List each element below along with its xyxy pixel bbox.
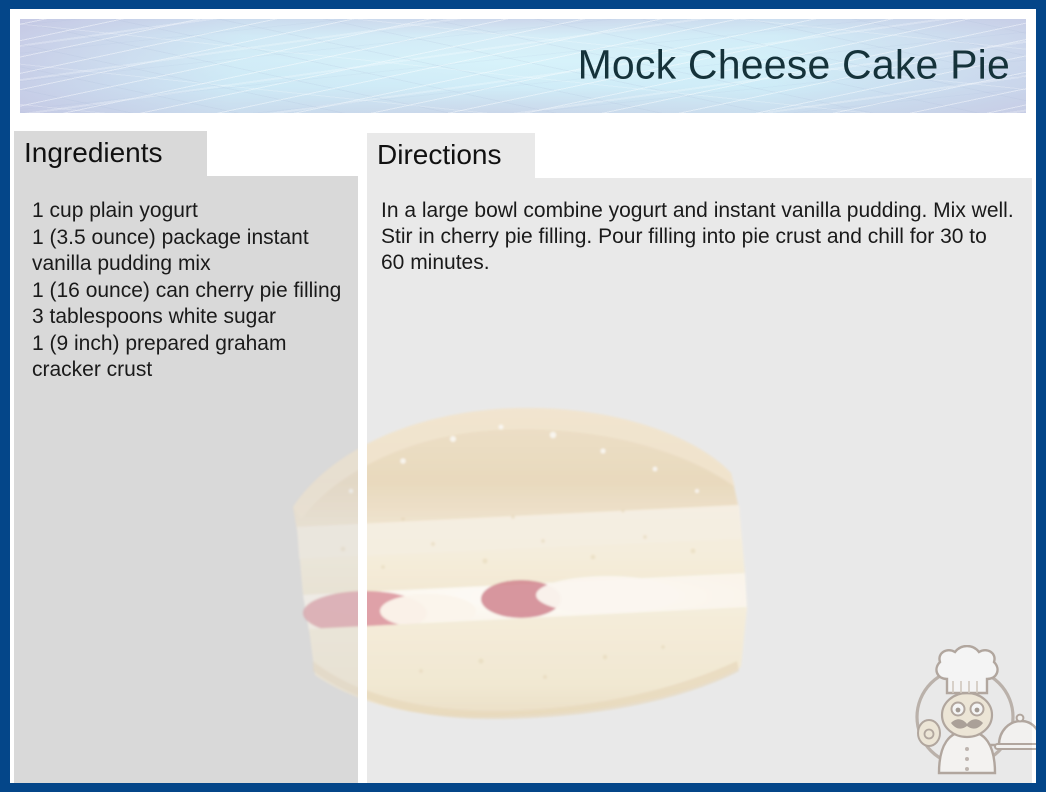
ingredients-panel: 1 cup plain yogurt 1 (3.5 ounce) package…: [14, 176, 358, 783]
ingredient-line: 1 (16 ounce) can cherry pie filling: [32, 278, 350, 305]
recipe-slide: Mock Cheese Cake Pie Ingredients 1 cup p…: [0, 0, 1046, 792]
tab-directions[interactable]: Directions: [367, 133, 535, 178]
ingredients-list: 1 cup plain yogurt 1 (3.5 ounce) package…: [14, 176, 358, 384]
header-banner: Mock Cheese Cake Pie: [20, 19, 1026, 113]
ingredient-line: 1 (3.5 ounce) package instant: [32, 225, 350, 252]
directions-text: In a large bowl combine yogurt and insta…: [367, 178, 1032, 276]
slide-content-area: Mock Cheese Cake Pie Ingredients 1 cup p…: [10, 9, 1036, 783]
directions-panel: In a large bowl combine yogurt and insta…: [367, 178, 1032, 783]
ingredient-line: vanilla pudding mix: [32, 251, 350, 278]
ingredient-line: cracker crust: [32, 357, 350, 384]
ingredient-line: 1 (9 inch) prepared graham: [32, 331, 350, 358]
ingredient-line: 1 cup plain yogurt: [32, 198, 350, 225]
recipe-title: Mock Cheese Cake Pie: [578, 45, 1010, 86]
tab-ingredients[interactable]: Ingredients: [14, 131, 207, 176]
ingredient-line: 3 tablespoons white sugar: [32, 304, 350, 331]
panel-gutter: [358, 176, 367, 783]
